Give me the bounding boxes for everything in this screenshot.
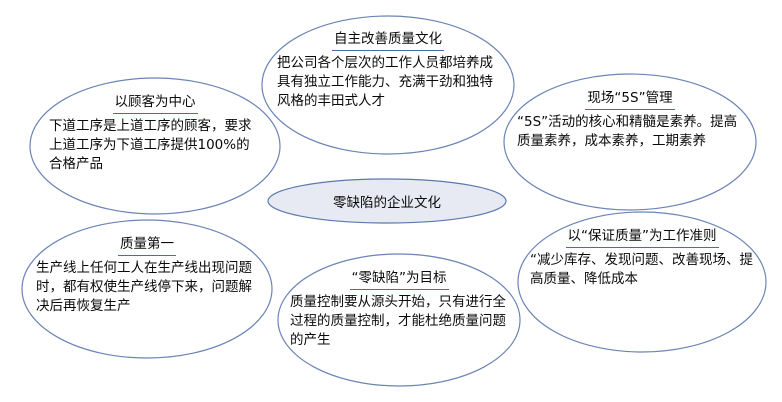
center-label: 零缺陷的企业文化 — [333, 191, 441, 211]
node-5s-title: 现场“5S”管理 — [585, 90, 674, 110]
node-5s-content: 现场“5S”管理 “5S”活动的核心和精髓是素养。提高质量素养，成本素养，工期素… — [504, 74, 756, 226]
node-quality-first-body: 生产线上任何工人在生产线出现问题时，都有权使生产线停下来，问题解决后再恢复生产 — [36, 259, 258, 316]
node-customer-body: 下道工序是上道工序的顾客，要求上道工序为下道工序提供100%的合格产品 — [49, 117, 261, 174]
node-customer-center[interactable]: 以顾客为中心 下道工序是上道工序的顾客，要求上道工序为下道工序提供100%的合格… — [30, 78, 280, 214]
node-culture-content: 自主改善质量文化 把公司各个层次的工作人员都培养成具有独立工作能力、充满干劲和独… — [262, 16, 514, 169]
node-guarantee-quality-principle[interactable]: 以“保证质量”为工作准则 “减少库存、发现问题、改善现场、提高质量、降低成本 — [518, 212, 766, 352]
node-culture-body: 把公司各个层次的工作人员都培养成具有独立工作能力、充满干劲和独特风格的丰田式人才 — [277, 54, 499, 111]
node-culture-title: 自主改善质量文化 — [332, 31, 444, 51]
node-zero-defect-goal[interactable]: “零缺陷”为目标 质量控制要从源头开始，只有进行全过程的质量控制，才能杜绝质量问… — [278, 254, 520, 386]
node-guarantee-body: “减少库存、发现问题、改善现场、提高质量、降低成本 — [530, 251, 754, 289]
node-5s-body: “5S”活动的核心和精髓是素养。提高质量素养，成本素养，工期素养 — [517, 113, 743, 151]
node-guarantee-content: 以“保证质量”为工作准则 “减少库存、发现问题、改善现场、提高质量、降低成本 — [518, 212, 766, 368]
diagram-canvas: 以顾客为中心 下道工序是上道工序的顾客，要求上道工序为下道工序提供100%的合格… — [0, 0, 782, 402]
node-zero-defect-title: “零缺陷”为目标 — [350, 270, 449, 290]
node-autonomous-improvement-culture[interactable]: 自主改善质量文化 把公司各个层次的工作人员都培养成具有独立工作能力、充满干劲和独… — [262, 16, 514, 154]
node-center-zero-defect-culture[interactable]: 零缺陷的企业文化 — [268, 179, 506, 223]
node-guarantee-title: 以“保证质量”为工作准则 — [566, 228, 719, 248]
node-quality-first-content: 质量第一 生产线上任何工人在生产线出现问题时，都有权使生产线停下来，问题解决后再… — [22, 220, 272, 374]
node-quality-first-title: 质量第一 — [118, 236, 176, 256]
node-zero-defect-content: “零缺陷”为目标 质量控制要从源头开始，只有进行全过程的质量控制，才能杜绝质量问… — [278, 254, 520, 402]
node-customer-content: 以顾客为中心 下道工序是上道工序的顾客，要求上道工序为下道工序提供100%的合格… — [30, 78, 280, 230]
node-quality-first[interactable]: 质量第一 生产线上任何工人在生产线出现问题时，都有权使生产线停下来，问题解决后再… — [22, 220, 272, 358]
node-zero-defect-body: 质量控制要从源头开始，只有进行全过程的质量控制，才能杜绝质量问题的产生 — [290, 293, 508, 350]
node-onsite-5s-management[interactable]: 现场“5S”管理 “5S”活动的核心和精髓是素养。提高质量素养，成本素养，工期素… — [504, 74, 756, 210]
node-customer-title: 以顾客为中心 — [113, 94, 198, 114]
